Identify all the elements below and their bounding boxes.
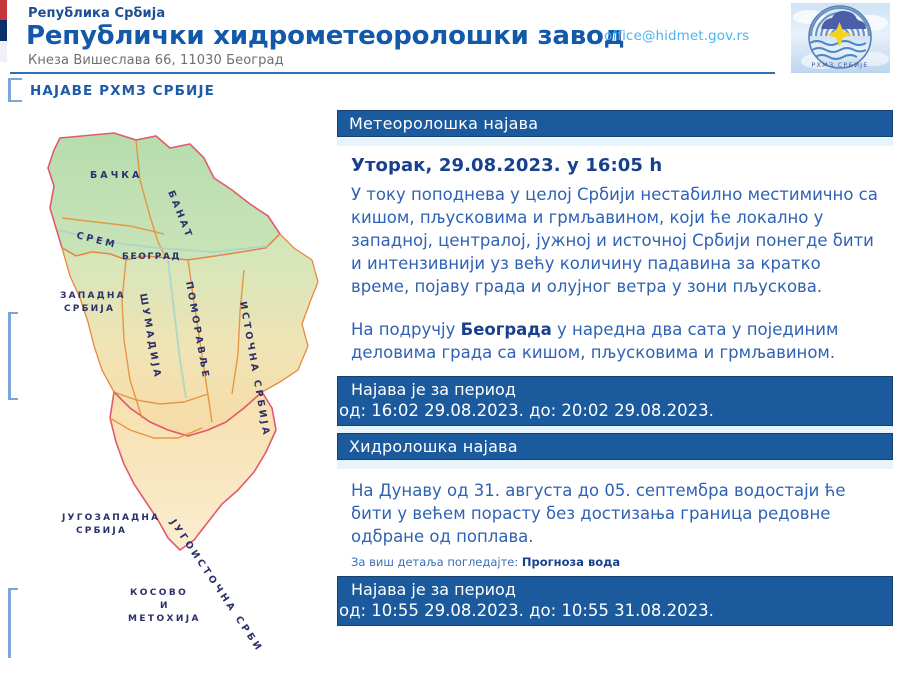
forecast-water-link[interactable]: Прогноза вода bbox=[522, 555, 620, 569]
belgrade-emphasis: Београда bbox=[461, 320, 552, 339]
page-frame-tick bbox=[8, 78, 22, 80]
logo-caption: РХМЗ СРБИЈЕ bbox=[811, 61, 868, 69]
meteo-period-value: од: 16:02 29.08.2023. до: 20:02 29.08.20… bbox=[339, 400, 892, 421]
belgrade-text-pre: На подручју bbox=[351, 320, 461, 339]
map-label-kosovo: КОСОВО bbox=[130, 588, 188, 598]
contact-email-link[interactable]: office@hidmet.gov.rs bbox=[604, 28, 749, 44]
meteo-paragraph-general: У току поподнева у целој Србији нестабил… bbox=[337, 179, 893, 304]
page-frame-left-rule-bottom bbox=[8, 588, 11, 658]
map-label-jugoistocna-srbija: ЈУГОИСТОЧНА СРБИЈА bbox=[167, 517, 274, 650]
serbia-regions-map: БАЧКА БАНАТ СРЕМ БЕОГРАД ЗАПАДНА СРБИЈА … bbox=[18, 130, 328, 650]
meteo-datetime: Уторак, 29.08.2023. у 16:05 h bbox=[337, 146, 893, 179]
meteo-paragraph-gap bbox=[337, 304, 893, 314]
hydro-section-header: Хидролошка најава bbox=[337, 433, 893, 460]
map-label-backa: БАЧКА bbox=[90, 170, 142, 181]
masthead-divider bbox=[10, 72, 775, 74]
hydro-footnote: За виш детаља погледајте: Прогноза вода bbox=[337, 554, 893, 576]
map-label-zapadna-srbija: ЗАПАДНА bbox=[60, 291, 126, 301]
meteo-paragraph-belgrade: На подручју Београда у наредна два сата … bbox=[337, 314, 893, 370]
page-frame-tick bbox=[8, 312, 18, 314]
institute-address: Кнеза Вишеслава 66, 11030 Београд bbox=[28, 53, 284, 68]
page-frame-tick bbox=[8, 100, 22, 102]
page-frame-left-rule-top bbox=[8, 78, 11, 102]
section-spacer bbox=[337, 426, 893, 433]
page-frame-tick bbox=[8, 588, 18, 590]
map-label-zapadna-srbija-2: СРБИЈА bbox=[64, 304, 115, 314]
map-label-beograd: БЕОГРАД bbox=[122, 252, 181, 262]
hydro-header-band bbox=[337, 460, 893, 469]
hydro-period-label: Најава је за период bbox=[344, 580, 892, 600]
meteo-period-label: Најава је за период bbox=[344, 380, 892, 400]
map-label-kosovo-i: И bbox=[160, 601, 170, 611]
meteo-section-header: Метеоролошка најава bbox=[337, 110, 893, 137]
announcements-panel: Метеоролошка најава Уторак, 29.08.2023. … bbox=[337, 110, 893, 626]
page-frame-left-rule-mid bbox=[8, 312, 11, 400]
map-label-jugozapadna-srbija: ЈУГОЗАПАДНА bbox=[61, 513, 160, 523]
map-label-jugozapadna-srbija-2: СРБИЈА bbox=[76, 526, 127, 536]
meteo-header-band bbox=[337, 137, 893, 146]
hydro-paragraph: На Дунаву од 31. августа до 05. септембр… bbox=[337, 475, 893, 554]
meteo-period-box: Најава је за период од: 16:02 29.08.2023… bbox=[337, 376, 893, 426]
masthead: Република Србија Републички хидрометеоро… bbox=[0, 0, 900, 78]
rhmz-logo: РХМЗ СРБИЈЕ bbox=[791, 3, 890, 73]
hydro-period-box: Најава је за период од: 10:55 29.08.2023… bbox=[337, 576, 893, 626]
page-title: НАЈАВЕ РХМЗ СРБИЈЕ bbox=[30, 83, 215, 99]
page-frame-tick bbox=[8, 398, 18, 400]
institute-title: Републички хидрометеоролошки завод bbox=[26, 21, 624, 51]
country-name: Република Србија bbox=[28, 6, 165, 21]
hydro-footnote-text: За виш детаља погледајте: bbox=[351, 555, 522, 569]
map-label-metohija: МЕТОХИЈА bbox=[128, 614, 201, 624]
hydro-period-value: од: 10:55 29.08.2023. до: 10:55 31.08.20… bbox=[339, 600, 892, 621]
